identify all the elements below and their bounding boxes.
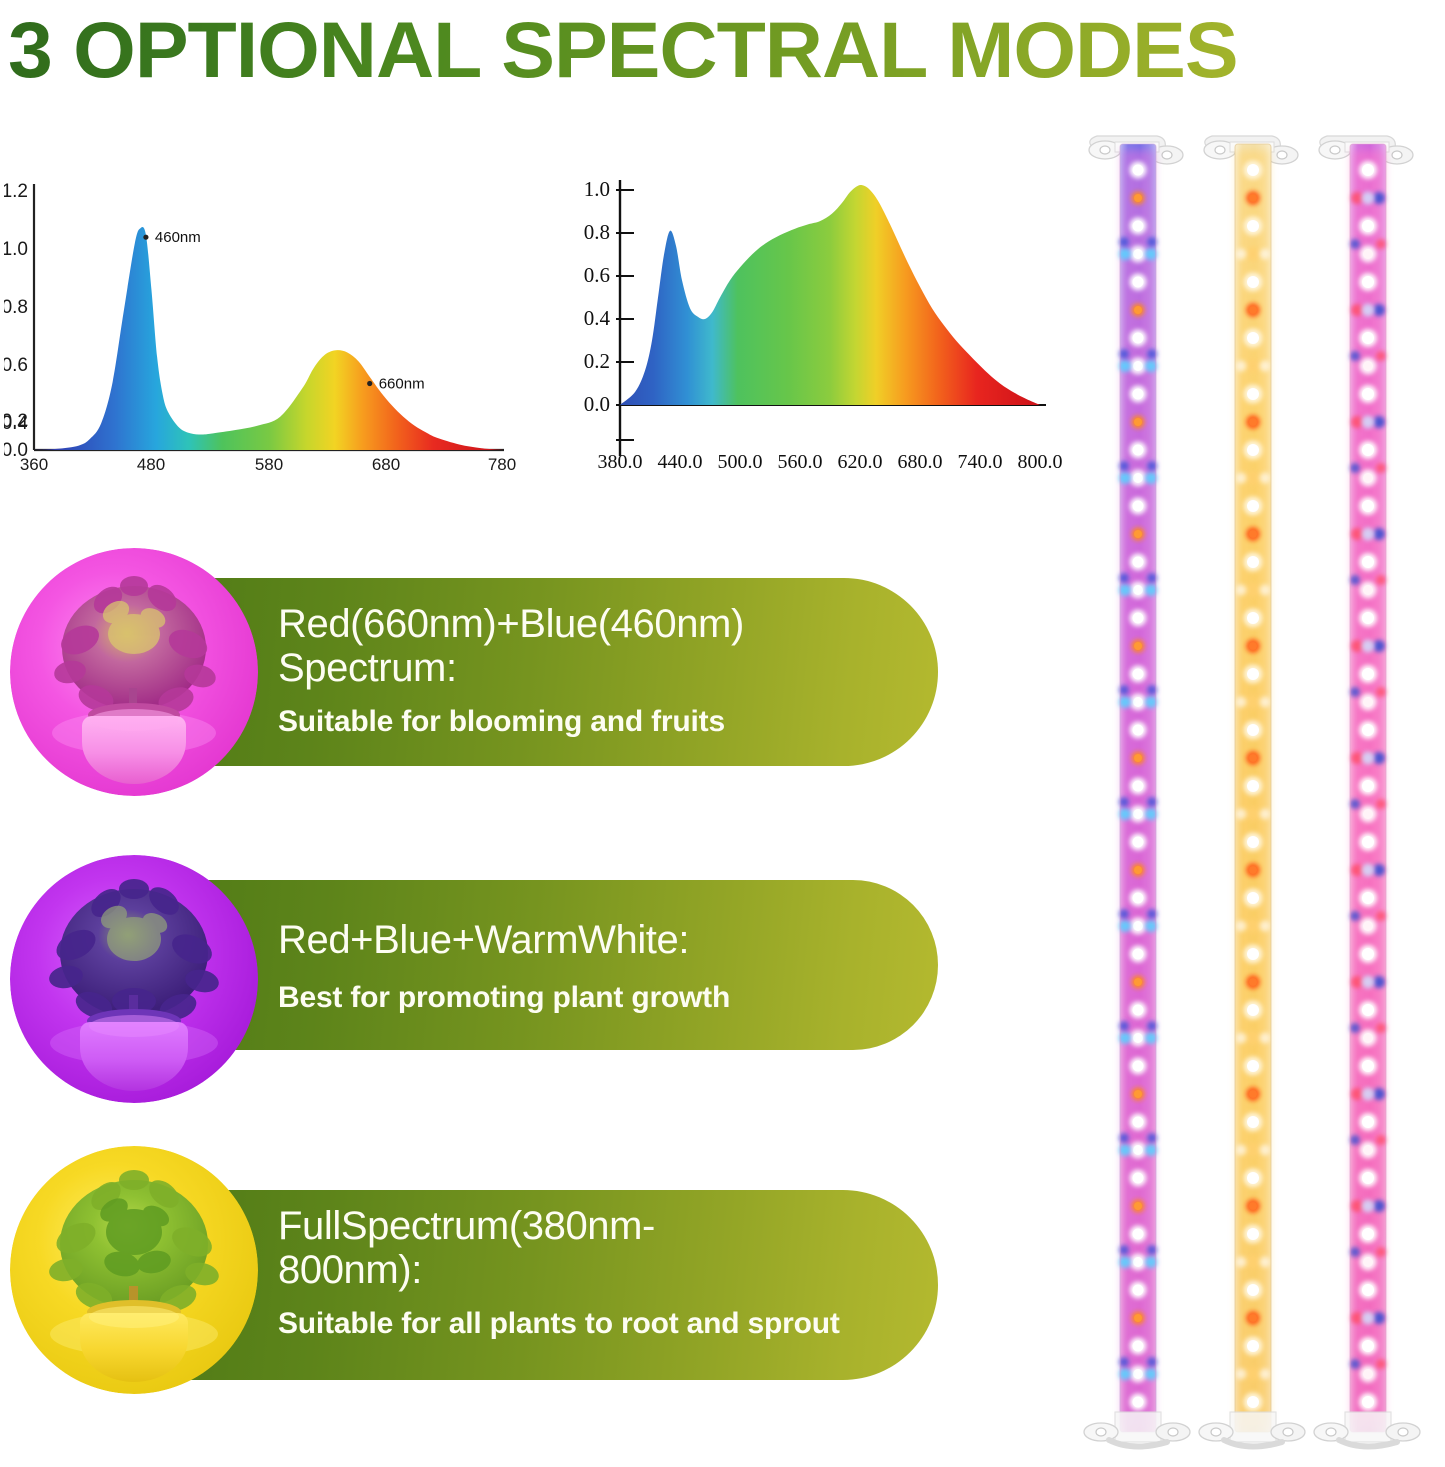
strip2-led bbox=[1236, 1369, 1247, 1380]
strip1-led bbox=[1133, 333, 1144, 344]
strip1-led bbox=[1145, 1032, 1157, 1044]
strip1-led bbox=[1133, 1061, 1144, 1072]
strip2-led bbox=[1247, 1004, 1259, 1016]
strip1-led bbox=[1134, 978, 1142, 986]
strip1-led bbox=[1134, 418, 1142, 426]
strip1-led bbox=[1145, 1368, 1157, 1380]
strip3-led bbox=[1362, 1060, 1374, 1072]
strip3-led bbox=[1362, 332, 1374, 344]
strip1-led bbox=[1133, 781, 1144, 792]
strip2-led bbox=[1246, 1367, 1260, 1381]
strip3-led bbox=[1351, 752, 1363, 764]
strip1-led bbox=[1133, 249, 1143, 259]
page-title: 3 OPTIONAL SPECTRAL MODES bbox=[8, 4, 1445, 96]
strip3-led bbox=[1373, 752, 1385, 764]
strip1-led bbox=[1134, 1314, 1142, 1322]
strip2-led bbox=[1247, 276, 1259, 288]
strip2-led bbox=[1236, 697, 1247, 708]
strip2-led bbox=[1236, 1145, 1247, 1156]
mode-title-red-blue: Red(660nm)+Blue(460nm) Spectrum: bbox=[278, 602, 958, 690]
chart2-xtick-620: 620.0 bbox=[838, 451, 883, 473]
strip3-led bbox=[1362, 724, 1374, 736]
strip2-led bbox=[1236, 809, 1247, 820]
strip3-led bbox=[1362, 556, 1374, 568]
strip3-led bbox=[1373, 1088, 1385, 1100]
strip3-led bbox=[1363, 1033, 1373, 1043]
chart1-peak-dot-460 bbox=[143, 235, 148, 240]
strip3-led bbox=[1362, 416, 1375, 429]
strip3-led bbox=[1363, 361, 1373, 371]
strip3-led bbox=[1350, 911, 1360, 921]
strip2-led bbox=[1260, 697, 1271, 708]
strip1-led bbox=[1133, 921, 1143, 931]
strip3-led bbox=[1376, 463, 1386, 473]
strip3-led bbox=[1373, 976, 1385, 988]
strip2-led bbox=[1247, 220, 1259, 232]
chart1-peak-label-660: 660nm bbox=[379, 376, 425, 393]
strip1-led bbox=[1134, 1090, 1142, 1098]
strip2-led bbox=[1260, 1257, 1271, 1268]
spectrum-chart-full-svg: 1.0 0.8 0.6 0.4 0.2 0.0 380.0 440.0 500.… bbox=[548, 168, 1068, 478]
strip2-led bbox=[1247, 1116, 1259, 1128]
strip1-led bbox=[1133, 1397, 1144, 1408]
mode-title-line1: Red+Blue+WarmWhite: bbox=[278, 918, 958, 962]
strip2-led bbox=[1247, 1060, 1259, 1072]
strip1-led bbox=[1119, 920, 1131, 932]
strip3-led bbox=[1362, 780, 1374, 792]
strip2-led bbox=[1246, 1255, 1260, 1269]
chart2-xtick-740: 740.0 bbox=[958, 451, 1003, 473]
strip1-led bbox=[1134, 194, 1142, 202]
chart1-xtick-580: 580 bbox=[255, 455, 283, 474]
chart2-xtick-380: 380.0 bbox=[598, 451, 643, 473]
strip3-led bbox=[1362, 444, 1374, 456]
strip2-led bbox=[1260, 1033, 1271, 1044]
strip2-led bbox=[1247, 388, 1259, 400]
strip3-led bbox=[1362, 500, 1374, 512]
strip2-led bbox=[1247, 836, 1259, 848]
mode-photo-fullspectrum bbox=[10, 1146, 258, 1394]
strip3-led bbox=[1363, 697, 1373, 707]
purple-lit-potted-plant-icon bbox=[10, 855, 258, 1103]
strip3-led bbox=[1373, 304, 1385, 316]
mode-photo-warmwhite bbox=[10, 855, 258, 1103]
strip1-led bbox=[1133, 669, 1144, 680]
chart1-ytick-1-0: 1.0 bbox=[4, 239, 28, 260]
strip2-led bbox=[1236, 249, 1247, 260]
strip2-led bbox=[1260, 1369, 1271, 1380]
strip1-led bbox=[1133, 473, 1143, 483]
strip2-led bbox=[1246, 471, 1260, 485]
strip2-led bbox=[1247, 1172, 1259, 1184]
strip3-led bbox=[1373, 640, 1385, 652]
strip1-led bbox=[1133, 1145, 1143, 1155]
strip1-led bbox=[1145, 1256, 1157, 1268]
strip1-led bbox=[1119, 1144, 1131, 1156]
strip1-led bbox=[1119, 472, 1131, 484]
strip3-led bbox=[1376, 1359, 1386, 1369]
chart2-ytick-0-2: 0.2 bbox=[584, 349, 610, 373]
strip3-led bbox=[1363, 249, 1373, 259]
strip3-led bbox=[1363, 809, 1373, 819]
strip1-led bbox=[1119, 248, 1131, 260]
strip3-led bbox=[1373, 528, 1385, 540]
strip2-led bbox=[1249, 866, 1257, 874]
strip3-led bbox=[1363, 1369, 1373, 1379]
strip3-led bbox=[1351, 864, 1363, 876]
strip3-led bbox=[1362, 164, 1374, 176]
strip3-led bbox=[1362, 220, 1374, 232]
led-strip-full-spectrum bbox=[1314, 136, 1420, 1447]
chart1-peak-label-460: 460nm bbox=[155, 229, 201, 246]
strip1-led bbox=[1133, 725, 1144, 736]
strip2-led bbox=[1249, 1314, 1257, 1322]
strip1-led bbox=[1145, 360, 1157, 372]
strip3-led bbox=[1362, 1088, 1375, 1101]
strip2-led bbox=[1236, 921, 1247, 932]
strip1-led bbox=[1145, 472, 1157, 484]
strip2-led bbox=[1236, 1033, 1247, 1044]
strip3-led bbox=[1362, 388, 1374, 400]
strip3-led bbox=[1362, 1312, 1375, 1325]
strip1-led bbox=[1133, 949, 1144, 960]
strip3-led bbox=[1373, 416, 1385, 428]
strip3-led bbox=[1373, 864, 1385, 876]
chart1-ytick-0-6: 0.6 bbox=[4, 355, 28, 376]
strip1-led bbox=[1133, 893, 1144, 904]
strip2-led bbox=[1246, 247, 1260, 261]
led-strip-red-blue bbox=[1084, 136, 1190, 1447]
strip2-led bbox=[1260, 249, 1271, 260]
strip2-led bbox=[1260, 585, 1271, 596]
strip3-led bbox=[1376, 1135, 1386, 1145]
strip2-led bbox=[1247, 1396, 1259, 1408]
strip2-led bbox=[1247, 1228, 1259, 1240]
strip3-led bbox=[1362, 864, 1375, 877]
strip1-led bbox=[1133, 389, 1144, 400]
chart1-peak-dot-660 bbox=[367, 381, 372, 386]
strip3-led bbox=[1363, 1257, 1373, 1267]
strip3-led bbox=[1350, 1135, 1360, 1145]
strip2-led bbox=[1260, 361, 1271, 372]
chart2-ytick-0-6: 0.6 bbox=[584, 263, 610, 287]
pink-lit-potted-plant-icon bbox=[10, 548, 258, 796]
strip3-led bbox=[1373, 1200, 1385, 1212]
mode-title-warmwhite: Red+Blue+WarmWhite: bbox=[278, 918, 958, 962]
chart2-ytick-0-0: 0.0 bbox=[584, 392, 610, 416]
strip3-led bbox=[1362, 892, 1374, 904]
strip2-led bbox=[1247, 612, 1259, 624]
strip1-led bbox=[1119, 584, 1131, 596]
strip2-led bbox=[1246, 919, 1260, 933]
mode-title-fullspectrum: FullSpectrum(380nm- 800nm): bbox=[278, 1204, 958, 1292]
strip3-led bbox=[1362, 612, 1374, 624]
strip1-led bbox=[1133, 445, 1144, 456]
strip3-led bbox=[1362, 836, 1374, 848]
mode-subtitle-fullspectrum: Suitable for all plants to root and spro… bbox=[278, 1306, 958, 1342]
strip2-led bbox=[1247, 332, 1259, 344]
strip1-led bbox=[1133, 809, 1143, 819]
strip2-led bbox=[1247, 948, 1259, 960]
strip2-led bbox=[1236, 1257, 1247, 1268]
chart1-xtick-680: 680 bbox=[372, 455, 400, 474]
strip3-led bbox=[1350, 575, 1360, 585]
strip1-led bbox=[1134, 306, 1142, 314]
strip3-bottom-clip bbox=[1314, 1412, 1420, 1447]
strip3-led bbox=[1362, 1284, 1374, 1296]
strip1-led bbox=[1145, 920, 1157, 932]
strip1-led bbox=[1133, 1173, 1144, 1184]
spectrum-chart-red-blue: 1.2 1.0 0.8 0.6 0.4 0.2 0.0 460nm 660nm … bbox=[4, 168, 520, 478]
strip3-led bbox=[1376, 911, 1386, 921]
strip1-led bbox=[1133, 557, 1144, 568]
mode-title-line2: Spectrum: bbox=[278, 646, 958, 690]
strip1-led bbox=[1133, 221, 1144, 232]
strip1-led bbox=[1119, 1032, 1131, 1044]
strip1-led bbox=[1119, 1368, 1131, 1380]
chart1-xtick-780: 780 bbox=[488, 455, 516, 474]
strip2-led bbox=[1249, 754, 1257, 762]
strip3-led bbox=[1351, 976, 1363, 988]
strip2-led bbox=[1247, 500, 1259, 512]
spectrum-chart-red-blue-svg: 1.2 1.0 0.8 0.6 0.4 0.2 0.0 460nm 660nm … bbox=[4, 168, 520, 478]
strip3-led bbox=[1351, 528, 1363, 540]
spectrum-chart-full: 1.0 0.8 0.6 0.4 0.2 0.0 380.0 440.0 500.… bbox=[548, 168, 1068, 478]
strip2-led bbox=[1236, 473, 1247, 484]
strip2-led bbox=[1246, 359, 1260, 373]
strip2-led bbox=[1247, 164, 1259, 176]
led-strips-svg bbox=[1075, 130, 1445, 1460]
strip1-led bbox=[1133, 165, 1144, 176]
led-strip-group bbox=[1075, 130, 1445, 1460]
strip1-led bbox=[1145, 584, 1157, 596]
strip3-led bbox=[1351, 1088, 1363, 1100]
chart1-xtick-360: 360 bbox=[20, 455, 48, 474]
strip1-led bbox=[1133, 361, 1143, 371]
led-strip-warm-white bbox=[1199, 136, 1305, 1447]
chart2-ytick-1-0: 1.0 bbox=[584, 177, 610, 201]
strip3-led bbox=[1362, 1396, 1374, 1408]
strip3-led bbox=[1351, 640, 1363, 652]
mode-photo-red-blue bbox=[10, 548, 258, 796]
strip2-led bbox=[1249, 530, 1257, 538]
strip3-led bbox=[1376, 575, 1386, 585]
strip2-led bbox=[1247, 444, 1259, 456]
mode-pill-warmwhite bbox=[150, 880, 938, 1050]
strip3-led bbox=[1363, 473, 1373, 483]
strip3-led bbox=[1362, 668, 1374, 680]
mode-title-line2: 800nm): bbox=[278, 1248, 958, 1292]
strip3-led bbox=[1362, 948, 1374, 960]
strip2-led bbox=[1236, 361, 1247, 372]
strip3-led bbox=[1362, 752, 1375, 765]
strip3-led bbox=[1350, 1247, 1360, 1257]
strip3-led bbox=[1362, 192, 1375, 205]
chart2-xtick-560: 560.0 bbox=[778, 451, 823, 473]
strip1-led bbox=[1145, 808, 1157, 820]
strip2-led bbox=[1260, 809, 1271, 820]
chart2-xtick-680: 680.0 bbox=[898, 451, 943, 473]
chart1-ytick-1-2: 1.2 bbox=[4, 181, 28, 202]
chart2-ytick-0-4: 0.4 bbox=[584, 306, 611, 330]
strip3-led bbox=[1373, 1312, 1385, 1324]
strip3-led bbox=[1376, 799, 1386, 809]
strip3-led bbox=[1351, 1312, 1363, 1324]
chart1-area bbox=[34, 227, 504, 450]
strip1-led bbox=[1134, 530, 1142, 538]
strip3-led bbox=[1350, 239, 1360, 249]
strip3-led bbox=[1351, 416, 1363, 428]
strip3-led bbox=[1351, 1200, 1363, 1212]
strip2-led bbox=[1247, 892, 1259, 904]
strip3-led bbox=[1376, 1023, 1386, 1033]
strip2-led bbox=[1260, 473, 1271, 484]
strip1-led bbox=[1134, 754, 1142, 762]
strip3-led bbox=[1350, 1023, 1360, 1033]
strip1-led bbox=[1133, 501, 1144, 512]
strip2-led bbox=[1246, 583, 1260, 597]
strip1-led bbox=[1145, 696, 1157, 708]
strip1-led bbox=[1133, 1257, 1143, 1267]
strip3-led bbox=[1362, 1116, 1374, 1128]
chart2-xtick-800: 800.0 bbox=[1018, 451, 1063, 473]
strip2-led bbox=[1249, 306, 1257, 314]
strip1-led bbox=[1133, 1285, 1144, 1296]
strip2-led bbox=[1247, 780, 1259, 792]
strip3-led bbox=[1362, 528, 1375, 541]
mode-subtitle-red-blue: Suitable for blooming and fruits bbox=[278, 704, 958, 740]
strip1-led bbox=[1133, 837, 1144, 848]
strip2-led bbox=[1249, 194, 1257, 202]
chart2-xtick-500: 500.0 bbox=[718, 451, 763, 473]
strip3-led bbox=[1362, 976, 1375, 989]
strip3-led bbox=[1351, 192, 1363, 204]
strip1-led bbox=[1133, 697, 1143, 707]
strip2-led bbox=[1249, 418, 1257, 426]
strip1-led bbox=[1133, 1229, 1144, 1240]
strip1-led bbox=[1133, 277, 1144, 288]
strip3-led bbox=[1350, 799, 1360, 809]
strip2-led bbox=[1260, 921, 1271, 932]
strip1-bottom-clip bbox=[1084, 1412, 1190, 1447]
strip3-led bbox=[1363, 585, 1373, 595]
strip3-led bbox=[1362, 640, 1375, 653]
strip2-led bbox=[1246, 807, 1260, 821]
strip1-led bbox=[1119, 808, 1131, 820]
strip3-led bbox=[1362, 1340, 1374, 1352]
strip3-led bbox=[1363, 921, 1373, 931]
strip3-led bbox=[1376, 351, 1386, 361]
strip3-led bbox=[1362, 304, 1375, 317]
strip2-led bbox=[1249, 642, 1257, 650]
strip2-led bbox=[1247, 724, 1259, 736]
mode-title-line1: Red(660nm)+Blue(460nm) bbox=[278, 602, 958, 646]
strip3-led bbox=[1376, 687, 1386, 697]
chart2-ytick-0-8: 0.8 bbox=[584, 220, 610, 244]
strip2-led bbox=[1249, 978, 1257, 986]
strip3-led bbox=[1362, 276, 1374, 288]
strip3-led bbox=[1373, 192, 1385, 204]
strip1-led bbox=[1133, 613, 1144, 624]
chart1-ytick-0-8: 0.8 bbox=[4, 297, 28, 318]
strip1-led bbox=[1133, 1005, 1144, 1016]
mode-title-line1: FullSpectrum(380nm- bbox=[278, 1204, 958, 1248]
strip3-led bbox=[1376, 239, 1386, 249]
strip3-led bbox=[1350, 463, 1360, 473]
strip3-led bbox=[1362, 1200, 1375, 1213]
strip3-led bbox=[1351, 304, 1363, 316]
strip1-led bbox=[1134, 1202, 1142, 1210]
strip2-led bbox=[1260, 1145, 1271, 1156]
strip2-led bbox=[1247, 1284, 1259, 1296]
strip1-led bbox=[1119, 696, 1131, 708]
strip2-led bbox=[1236, 585, 1247, 596]
strip1-led bbox=[1133, 585, 1143, 595]
strip1-led bbox=[1145, 1144, 1157, 1156]
strip3-led bbox=[1350, 351, 1360, 361]
strip1-led bbox=[1119, 1256, 1131, 1268]
strip2-led bbox=[1249, 1202, 1257, 1210]
strip1-led bbox=[1133, 1341, 1144, 1352]
strip2-led bbox=[1246, 1143, 1260, 1157]
strip2-led bbox=[1247, 556, 1259, 568]
yellow-lit-potted-plant-icon bbox=[10, 1146, 258, 1394]
strip1-led bbox=[1145, 248, 1157, 260]
strip1-led bbox=[1119, 360, 1131, 372]
strip3-led bbox=[1376, 1247, 1386, 1257]
strip2-bottom-clip bbox=[1199, 1412, 1305, 1447]
mode-subtitle-warmwhite: Best for promoting plant growth bbox=[278, 980, 958, 1016]
strip1-led bbox=[1133, 1117, 1144, 1128]
strip3-led bbox=[1362, 1228, 1374, 1240]
strip1-led bbox=[1134, 642, 1142, 650]
chart1-xtick-480: 480 bbox=[137, 455, 165, 474]
strip2-led bbox=[1246, 1031, 1260, 1045]
strip2-led bbox=[1247, 1340, 1259, 1352]
strip3-led bbox=[1350, 1359, 1360, 1369]
strip3-led bbox=[1362, 1172, 1374, 1184]
strip1-led bbox=[1133, 1033, 1143, 1043]
strip2-led bbox=[1249, 1090, 1257, 1098]
strip3-led bbox=[1363, 1145, 1373, 1155]
chart2-xtick-440: 440.0 bbox=[658, 451, 703, 473]
strip2-led bbox=[1246, 695, 1260, 709]
strip3-led bbox=[1362, 1004, 1374, 1016]
strip1-led bbox=[1134, 866, 1142, 874]
strip2-led bbox=[1247, 668, 1259, 680]
strip1-led bbox=[1133, 1369, 1143, 1379]
strip3-led bbox=[1350, 687, 1360, 697]
chart1-ytick-0-2: 0.2 bbox=[4, 411, 28, 432]
chart2-area bbox=[620, 185, 1040, 405]
